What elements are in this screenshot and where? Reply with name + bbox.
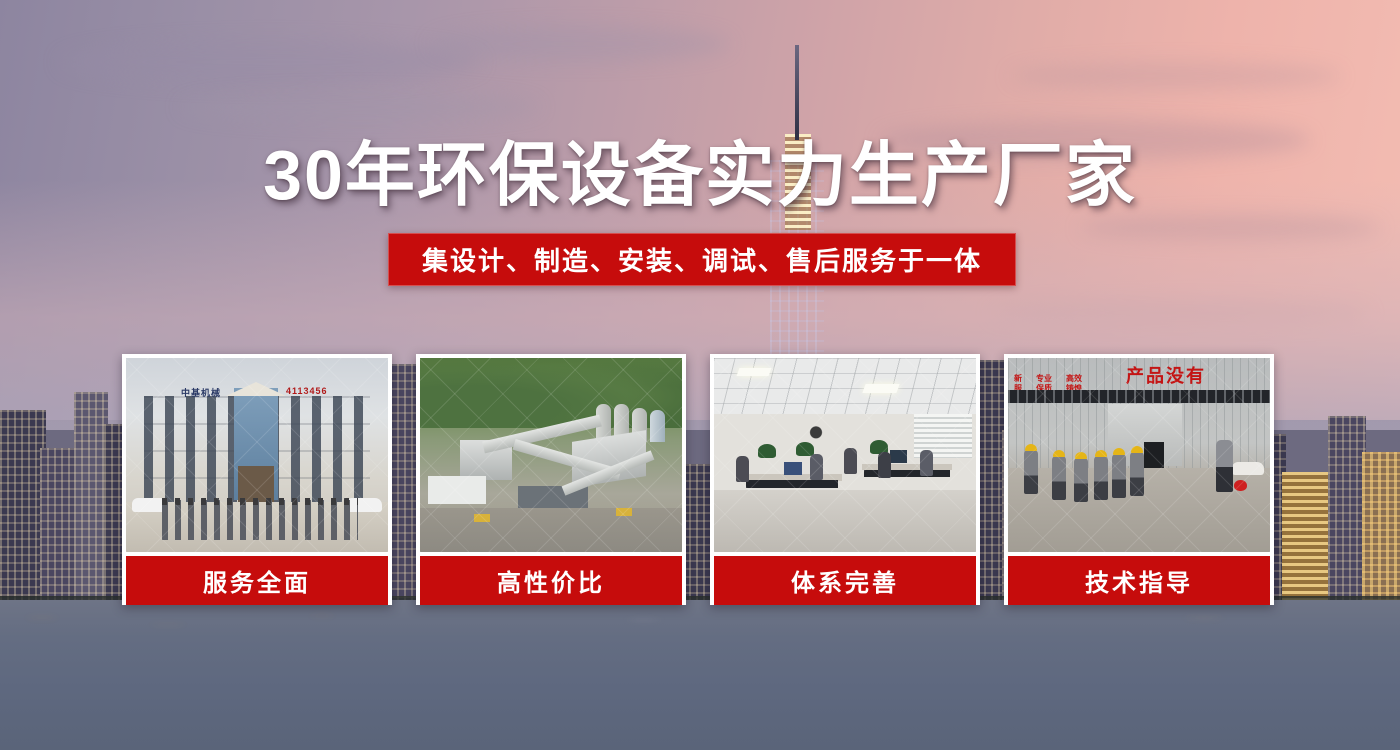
workers-training-photo: 产品没有 新服 专业保质 高效铸煌 xyxy=(1008,358,1270,552)
factory-wall-slogan: 产品没有 xyxy=(1126,362,1206,388)
cloud-shape xyxy=(1010,62,1340,90)
building-sign-text: 中基机械 xyxy=(181,386,221,399)
subtitle-text: 集设计、制造、安装、调试、售后服务于一体 xyxy=(422,241,982,278)
page-title: 30年环保设备实力生产厂家 xyxy=(0,136,1400,214)
feature-card[interactable]: 高性价比 xyxy=(416,354,686,605)
card-caption-label: 技术指导 xyxy=(1085,563,1193,598)
cloud-shape xyxy=(430,26,730,62)
subtitle-banner: 集设计、制造、安装、调试、售后服务于一体 xyxy=(388,233,1016,286)
feature-card[interactable]: 体系完善 xyxy=(710,354,980,605)
cloud-shape xyxy=(180,92,540,122)
tower-spire xyxy=(795,45,799,140)
building-phone-text: 4113456 xyxy=(286,386,328,396)
feature-card[interactable]: 产品没有 新服 专业保质 高效铸煌 技术指导 xyxy=(1004,354,1274,605)
cloud-shape xyxy=(60,40,480,84)
company-office-building-photo: 中基机械 4113456 xyxy=(126,358,388,552)
card-caption-label: 高性价比 xyxy=(497,563,605,598)
office-interior-staff-photo xyxy=(714,358,976,552)
card-caption-label: 服务全面 xyxy=(203,563,311,598)
card-caption: 高性价比 xyxy=(420,556,682,605)
feature-card-list: 中基机械 4113456 服务全面 xyxy=(122,354,1279,605)
card-caption: 技术指导 xyxy=(1008,556,1270,605)
card-caption-label: 体系完善 xyxy=(791,563,899,598)
card-caption: 服务全面 xyxy=(126,556,388,605)
card-caption: 体系完善 xyxy=(714,556,976,605)
aerial-factory-plant-photo xyxy=(420,358,682,552)
promo-banner: 30年环保设备实力生产厂家 集设计、制造、安装、调试、售后服务于一体 中基机械 … xyxy=(0,0,1400,750)
water-reflections xyxy=(0,604,1400,650)
feature-card[interactable]: 中基机械 4113456 服务全面 xyxy=(122,354,392,605)
